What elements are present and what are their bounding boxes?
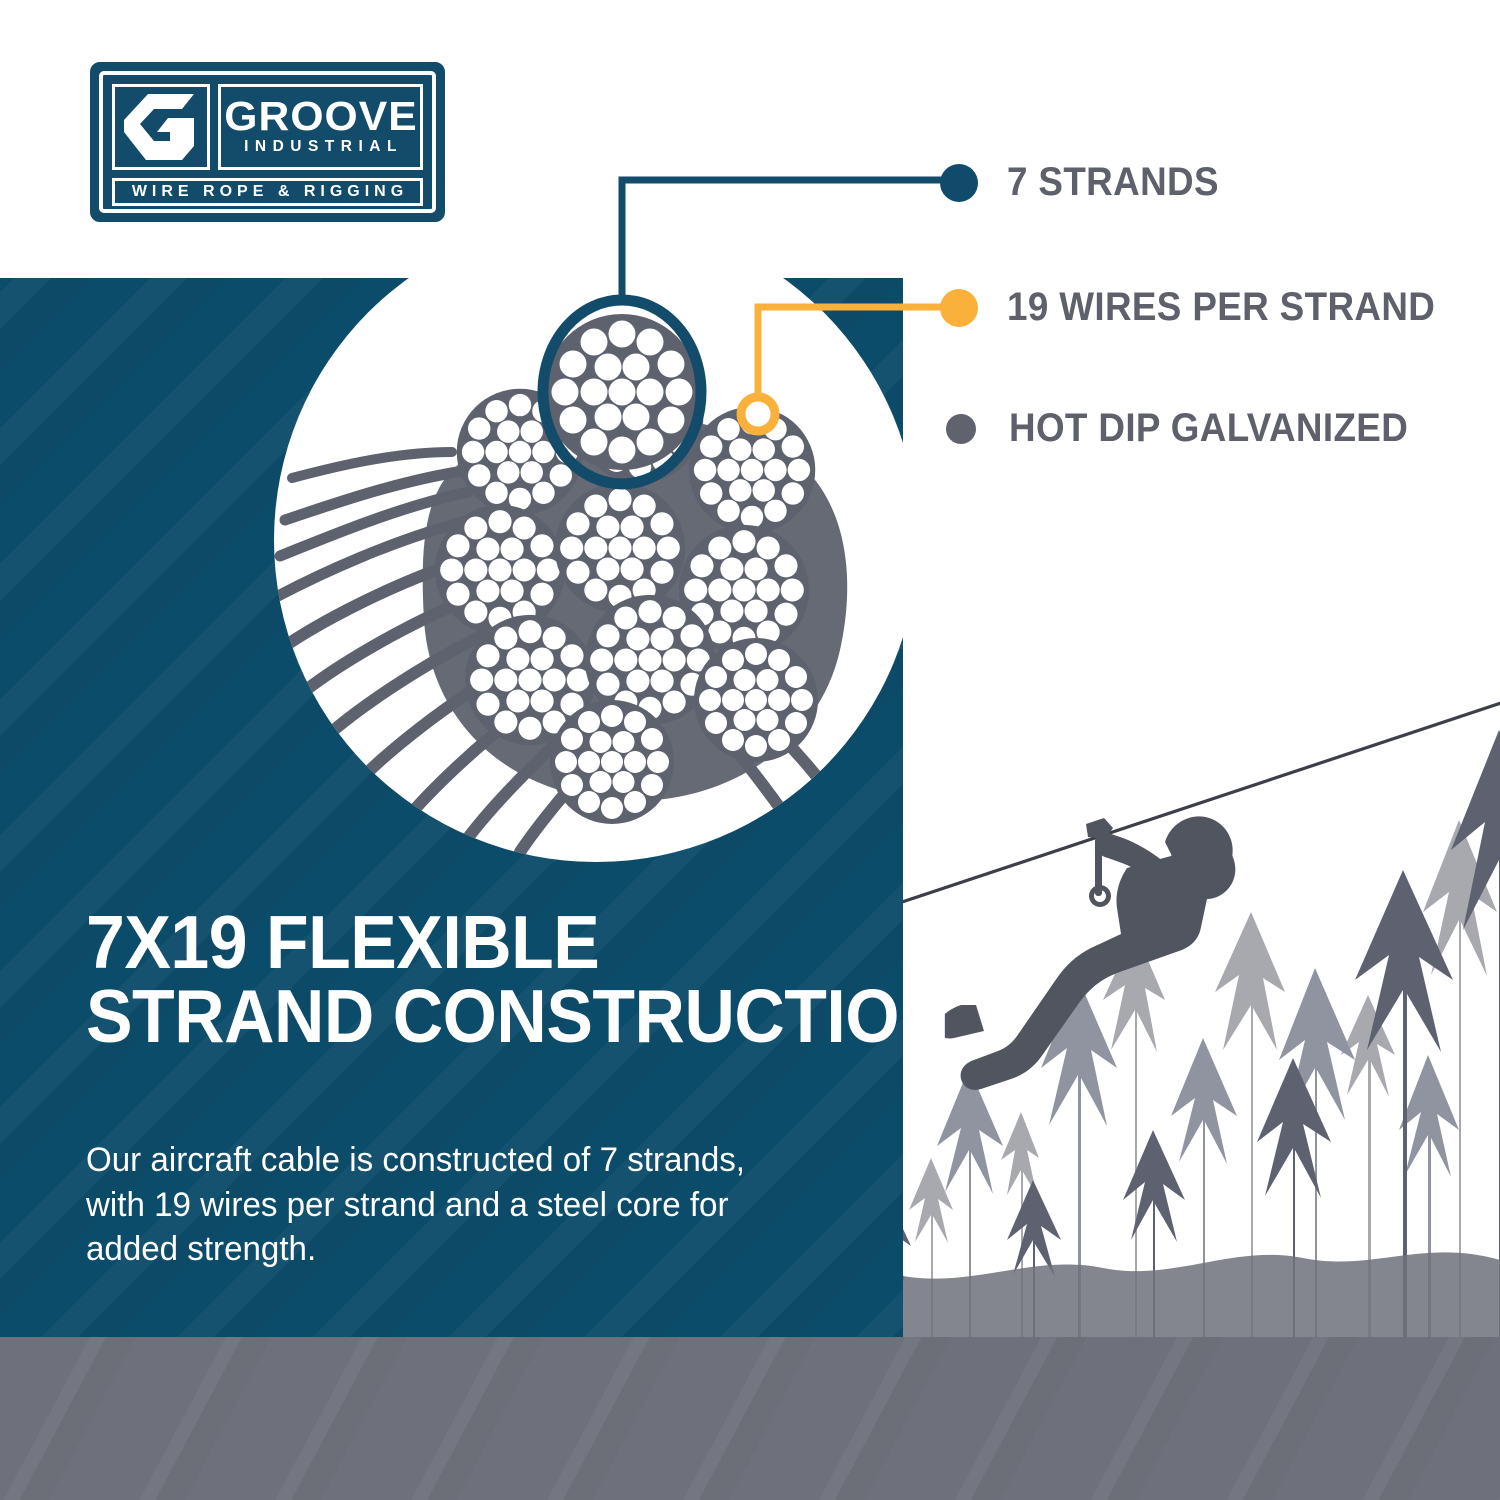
callout-strands[interactable]: 7 STRANDS (940, 160, 1237, 205)
body-description: Our aircraft cable is constructed of 7 s… (86, 1138, 758, 1272)
callout-label-wires: 19 WIRES PER STRAND (1007, 285, 1435, 330)
headline-line-1: 7X19 FLEXIBLE (86, 906, 821, 980)
callout-hot-dip-galvanized[interactable]: HOT DIP GALVANIZED (946, 406, 1443, 451)
callout-wires-per-strand[interactable]: 19 WIRES PER STRAND (940, 285, 1472, 330)
callout-dot-navy-icon (940, 164, 978, 202)
callout-label-galvanized: HOT DIP GALVANIZED (1009, 406, 1408, 451)
bottom-gray-band (0, 1337, 1500, 1500)
headline-line-2: STRAND CONSTRUCTION (86, 980, 821, 1054)
wire-rope-illustration (0, 0, 1500, 1500)
infographic-canvas: GROOVE INDUSTRIAL WIRE ROPE & RIGGING (0, 0, 1500, 1500)
callout-dot-gray-icon (946, 414, 976, 444)
magnified-strand-callout (543, 300, 701, 484)
callout-dot-amber-icon (940, 289, 978, 327)
page-title: 7X19 FLEXIBLE STRAND CONSTRUCTION (86, 906, 821, 1053)
callout-label-strands: 7 STRANDS (1007, 160, 1219, 205)
